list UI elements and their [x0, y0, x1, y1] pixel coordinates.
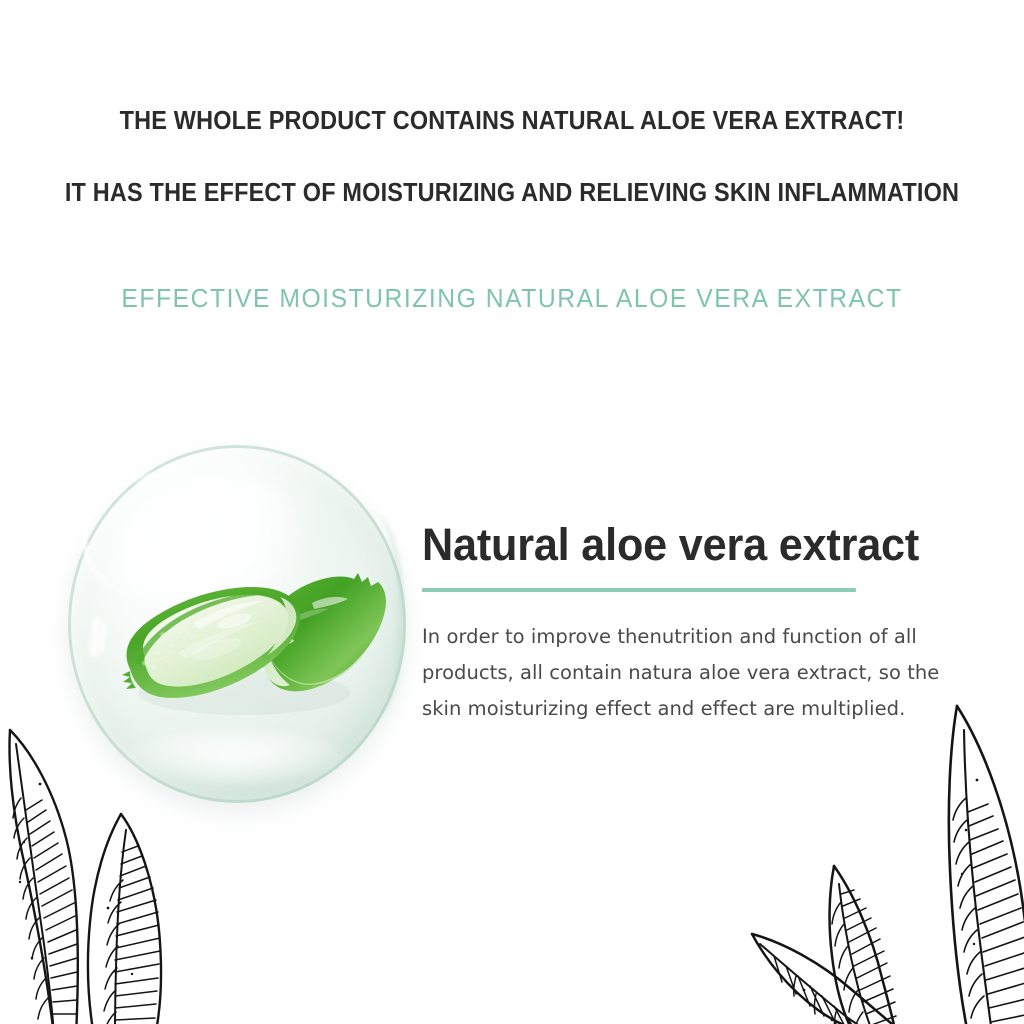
leaf-illustration-left-icon	[0, 706, 236, 1024]
infographic-page: THE WHOLE PRODUCT CONTAINS NATURAL ALOE …	[0, 0, 1024, 1024]
headline-secondary: IT HAS THE EFFECT OF MOISTURIZING AND RE…	[41, 176, 983, 210]
info-title: Natural aloe vera extract	[422, 518, 960, 572]
leaves-right-decoration	[744, 694, 1024, 1024]
leaves-left-decoration	[0, 706, 236, 1024]
info-divider	[422, 588, 856, 592]
headline-block: THE WHOLE PRODUCT CONTAINS NATURAL ALOE …	[0, 104, 1024, 210]
headline-primary: THE WHOLE PRODUCT CONTAINS NATURAL ALOE …	[41, 104, 983, 138]
subtitle-tagline: EFFECTIVE MOISTURIZING NATURAL ALOE VERA…	[26, 283, 999, 314]
leaf-illustration-right-icon	[744, 694, 1024, 1024]
